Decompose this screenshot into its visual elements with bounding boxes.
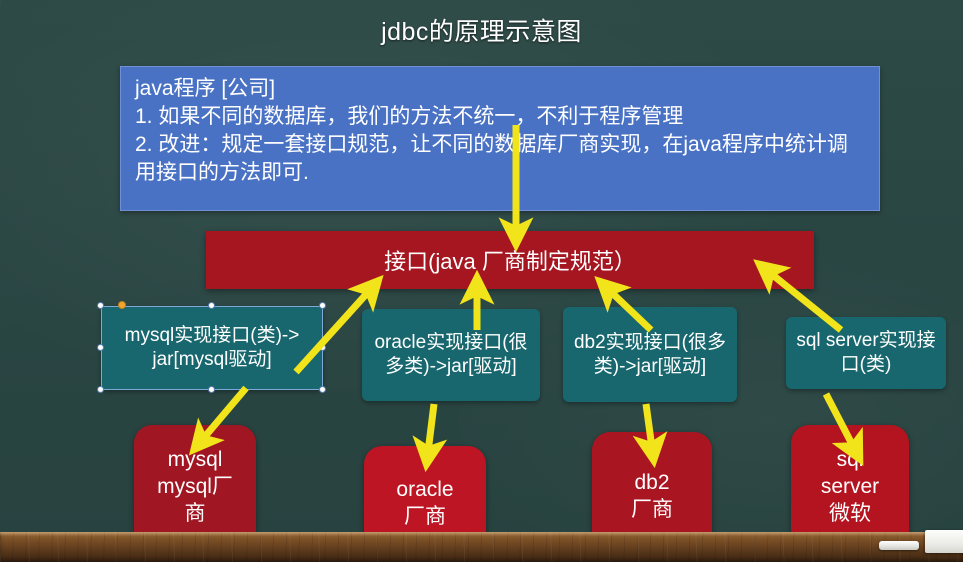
impl-label-mysql: mysql实现接口(类)-> jar[mysql驱动] [107,324,317,372]
selection-handle-top-center[interactable] [208,302,215,309]
impl-box-oracle[interactable]: oracle实现接口(很多类)->jar[驱动] [362,309,540,401]
impl-label-sqlserver: sql server实现接口(类) [792,329,940,377]
selection-handle-bottom-left[interactable] [97,386,104,393]
vendor-mysql-line-2: mysql厂 [157,474,233,501]
interface-box[interactable]: 接口(java 厂商制定规范） [206,231,814,289]
vendor-oracle-line-2: 厂商 [396,504,453,531]
wood-grain [0,532,963,562]
java-program-heading: java程序 [公司] [135,75,865,103]
vendor-sqlserver-line-2: server [821,474,879,501]
vendor-mysql-line-3: 商 [157,501,233,528]
vendor-sqlserver-line-1: sql [821,447,879,474]
vendor-db2-line-1: db2 [631,470,673,497]
impl-box-sqlserver[interactable]: sql server实现接口(类) [786,317,946,389]
selection-handle-bottom-right[interactable] [319,386,326,393]
selection-handle-top-right[interactable] [319,302,326,309]
impl-box-db2[interactable]: db2实现接口(很多类)->jar[驱动] [563,307,737,402]
java-program-line-1: 1. 如果不同的数据库，我们的方法不统一，不利于程序管理 [135,103,865,131]
vendor-oracle-line-1: oracle [396,477,453,504]
java-program-box[interactable]: java程序 [公司] 1. 如果不同的数据库，我们的方法不统一，不利于程序管理… [120,66,880,211]
chalkboard-slide: jdbc的原理示意图 java程序 [公司] 1. 如果不同的数据库，我们的方法… [0,0,963,562]
board-eraser-icon [925,530,963,553]
vendor-db2-line-2: 厂商 [631,497,673,524]
page-title: jdbc的原理示意图 [0,12,963,48]
chalk-stick-icon [879,541,919,550]
selection-handle-top-left[interactable] [97,302,104,309]
selection-handle-middle-right[interactable] [319,344,326,351]
rotation-handle[interactable] [118,301,126,309]
selection-handle-bottom-center[interactable] [208,386,215,393]
arrow-oracle-impl-to-vendor [428,404,434,452]
interface-box-label: 接口(java 厂商制定规范） [384,244,636,276]
java-program-line-2: 2. 改进：规定一套接口规范，让不同的数据库厂商实现，在java程序中统计调用接… [135,131,865,187]
vendor-mysql-line-1: mysql [157,447,233,474]
impl-label-oracle: oracle实现接口(很多类)->jar[驱动] [368,331,534,379]
vendor-sqlserver-line-3: 微软 [821,501,879,528]
selection-handle-middle-left[interactable] [97,344,104,351]
chalk-ledge [0,532,963,562]
impl-box-mysql[interactable]: mysql实现接口(类)-> jar[mysql驱动] [101,306,323,390]
impl-label-db2: db2实现接口(很多类)->jar[驱动] [569,331,731,379]
